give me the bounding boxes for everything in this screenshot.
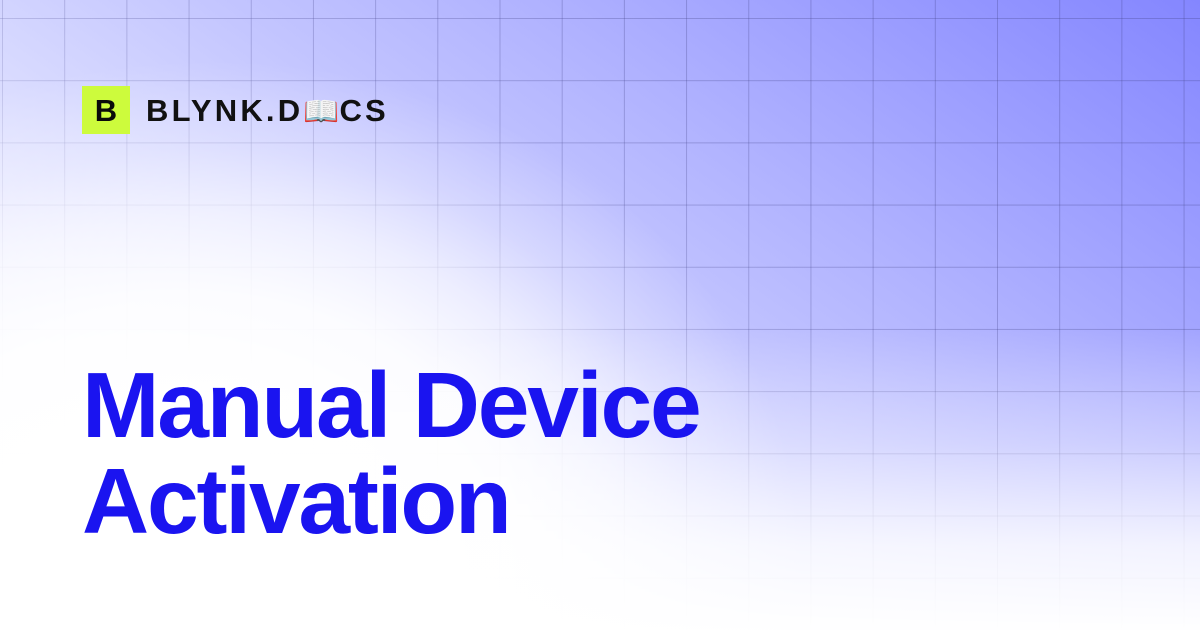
- blynk-logo-mark: B: [82, 86, 130, 134]
- card-content: B BLYNK.D 📖 CS Manual Device Activation: [0, 0, 1200, 630]
- blynk-logo-letter: B: [95, 95, 117, 126]
- wordmark-prefix: BLYNK.D: [146, 95, 303, 126]
- open-book-icon: 📖: [303, 97, 339, 126]
- brand-lockup[interactable]: B BLYNK.D 📖 CS: [82, 86, 389, 134]
- wordmark-suffix: CS: [339, 95, 388, 126]
- og-card: B BLYNK.D 📖 CS Manual Device Activation: [0, 0, 1200, 630]
- page-title: Manual Device Activation: [82, 357, 700, 549]
- blynk-docs-wordmark: BLYNK.D 📖 CS: [146, 95, 389, 126]
